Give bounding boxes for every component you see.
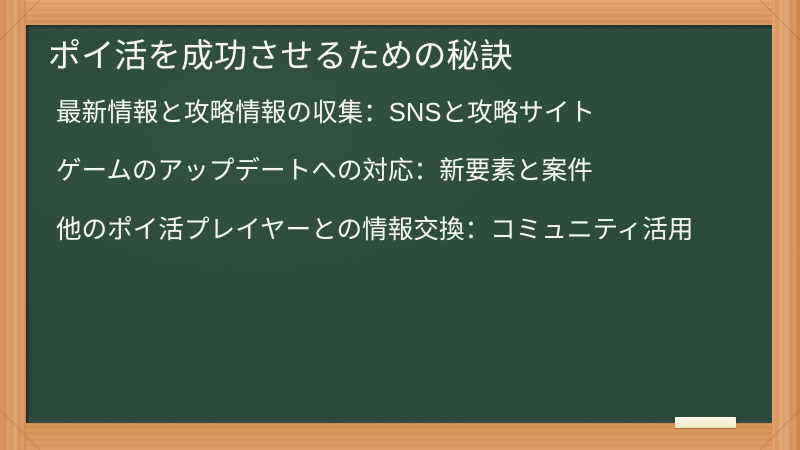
bullet-item-3: 他のポイ活プレイヤーとの情報交換：コミュニティ活用 — [48, 215, 750, 246]
bullet-item-1: 最新情報と攻略情報の収集：SNSと攻略サイト — [48, 98, 750, 129]
bullet-list: 最新情報と攻略情報の収集：SNSと攻略サイト ゲームのアップデートへの対応：新要… — [48, 98, 750, 246]
wood-frame-top — [0, 0, 800, 26]
slide-title: ポイ活を成功させるための秘訣 — [48, 37, 750, 76]
bullet-item-2: ゲームのアップデートへの対応：新要素と案件 — [48, 156, 750, 187]
wood-frame-left — [0, 0, 26, 450]
chalkboard-surface: ポイ活を成功させるための秘訣 最新情報と攻略情報の収集：SNSと攻略サイト ゲー… — [26, 25, 772, 423]
chalkboard-slide: ポイ活を成功させるための秘訣 最新情報と攻略情報の収集：SNSと攻略サイト ゲー… — [0, 0, 800, 450]
wood-frame-right — [772, 0, 800, 450]
chalk-stick-icon — [675, 417, 736, 428]
chalkboard-content: ポイ活を成功させるための秘訣 最新情報と攻略情報の収集：SNSと攻略サイト ゲー… — [26, 25, 772, 246]
